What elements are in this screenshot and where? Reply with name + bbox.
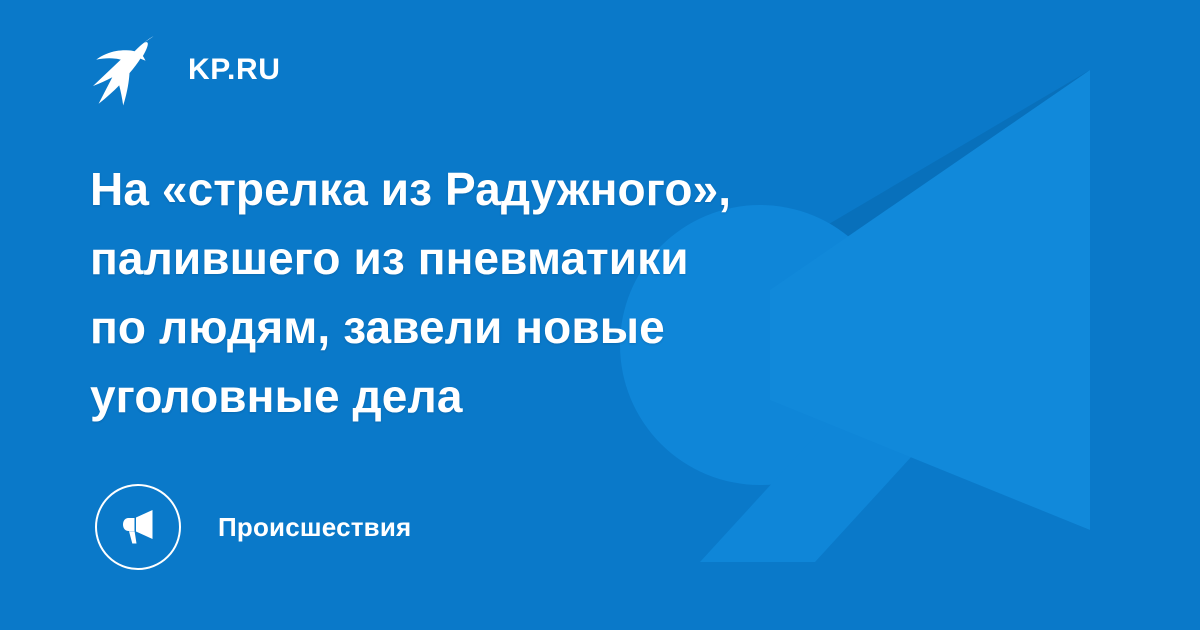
category-badge[interactable]: Происшествия [95,484,411,570]
swallow-bird-icon [92,34,166,106]
headline-line-3: по людям, завели новые [90,293,990,362]
category-label: Происшествия [218,514,411,540]
headline-line-2: палившего из пневматики [90,224,990,293]
brand[interactable]: KP.RU [92,34,280,106]
page-title: На «стрелка из Радужного», палившего из … [90,155,990,431]
social-share-card: KP.RU На «стрелка из Радужного», паливше… [0,0,1200,630]
megaphone-icon [95,484,181,570]
headline-line-1: На «стрелка из Радужного», [90,155,990,224]
headline-line-4: уголовные дела [90,362,990,431]
watermark-megaphone-handle [700,420,945,562]
brand-name: KP.RU [188,55,280,85]
